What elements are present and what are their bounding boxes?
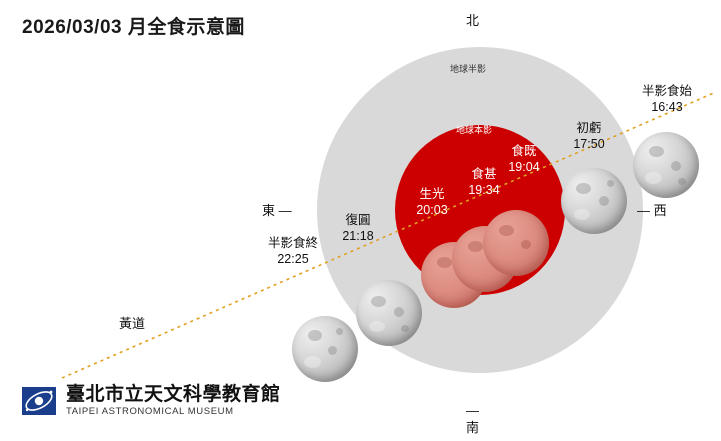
crater xyxy=(401,325,409,332)
moon-penumbral-end xyxy=(292,316,358,382)
crater xyxy=(304,356,321,368)
compass-east: 東 — xyxy=(262,200,292,219)
crater xyxy=(521,240,531,249)
moon-partial-begin xyxy=(561,168,627,234)
penumbra-label: 地球半影 xyxy=(450,62,486,75)
crater xyxy=(437,257,452,268)
crater xyxy=(369,321,385,332)
crater xyxy=(308,330,322,341)
crater xyxy=(574,209,590,220)
south-tick: — xyxy=(466,405,479,417)
crater xyxy=(599,196,609,206)
eclipse-diagram: 2026/03/03 月全食示意圖 地球半影 地球本影 xyxy=(0,0,721,441)
phase-name: 半影食始 xyxy=(613,83,721,99)
crater xyxy=(371,296,386,307)
crater xyxy=(649,146,664,157)
crater xyxy=(499,225,514,236)
observatory-logo-icon xyxy=(20,383,58,419)
crater xyxy=(328,346,337,355)
phase-name: 生光 xyxy=(382,186,482,202)
museum-name-en: TAIPEI ASTRONOMICAL MUSEUM xyxy=(66,407,281,417)
moon-partial-end xyxy=(356,280,422,346)
phase-name: 初虧 xyxy=(539,120,639,136)
moon-penumbral-begin xyxy=(633,132,699,198)
moon-totality-begin xyxy=(483,210,549,276)
compass-south: — 南 xyxy=(466,405,479,436)
crater xyxy=(394,307,404,317)
phase-name: 食既 xyxy=(474,143,574,159)
compass-south-label: 南 xyxy=(466,417,479,436)
phase-name: 食甚 xyxy=(434,166,534,182)
crater xyxy=(645,172,662,184)
phase-label-penumbral-begin: 半影食始 16:43 xyxy=(613,83,721,115)
phase-time: 16:43 xyxy=(613,99,721,115)
museum-name-cn: 臺北市立天文科學教育館 xyxy=(66,385,281,405)
crater xyxy=(468,241,483,252)
crater xyxy=(678,178,686,185)
crater xyxy=(671,161,681,171)
compass-north: 北 xyxy=(466,10,479,29)
ecliptic-label: 黃道 xyxy=(119,313,145,332)
crater xyxy=(607,180,614,187)
museum-name-block: 臺北市立天文科學教育館 TAIPEI ASTRONOMICAL MUSEUM xyxy=(66,385,281,417)
compass-west: — 西 xyxy=(637,200,667,219)
phase-name: 半影食終 xyxy=(239,235,347,251)
page-title: 2026/03/03 月全食示意圖 xyxy=(22,12,245,39)
umbra-label: 地球本影 xyxy=(456,123,492,136)
phase-label-penumbral-end: 半影食終 22:25 xyxy=(239,235,347,267)
crater xyxy=(336,328,343,335)
crater xyxy=(576,183,591,194)
phase-time: 22:25 xyxy=(239,251,347,267)
phase-name: 復圓 xyxy=(308,212,408,228)
museum-logo: 臺北市立天文科學教育館 TAIPEI ASTRONOMICAL MUSEUM xyxy=(20,383,281,419)
